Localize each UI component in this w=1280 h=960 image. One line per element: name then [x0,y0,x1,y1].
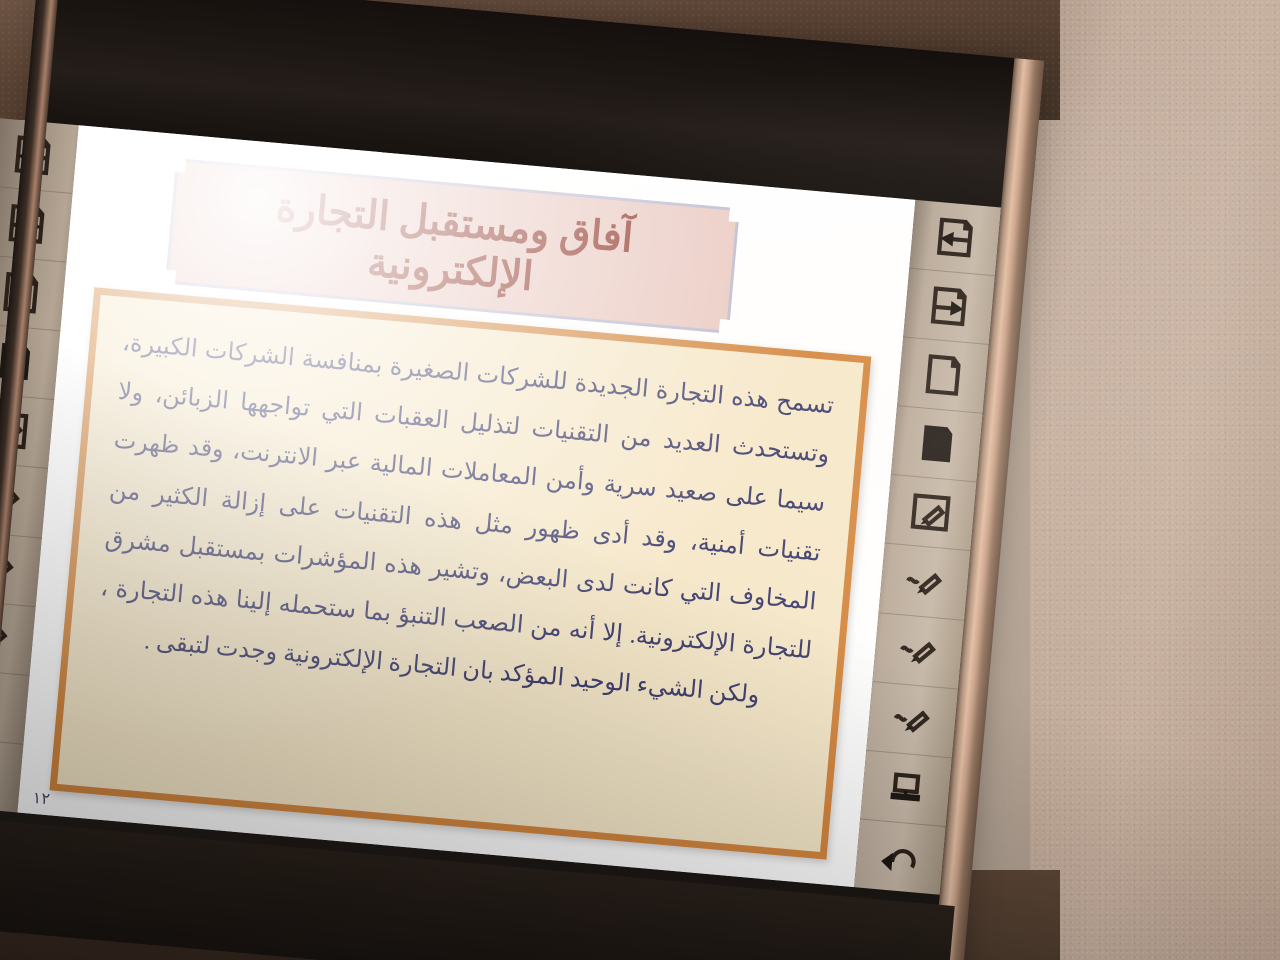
slide-title: آفاق ومستقبل التجارة الإلكترونية [169,174,735,318]
toolbar-right-pen-2-button[interactable] [872,613,964,689]
room-scene: JMD Electronic [0,0,1280,960]
toolbar-right-page-back-button[interactable] [909,200,1001,276]
toolbar-right-undo-button[interactable] [854,819,946,894]
pen-squiggle-1-icon [907,573,940,595]
projection-screen[interactable]: آفاق ومستقبل التجارة الإلكترونية تسمح هذ… [17,125,915,887]
slide-page-number: ١٢ [32,788,51,809]
toolbar-right-eraser-button[interactable] [860,750,952,826]
black-page-icon [922,426,953,463]
slide-body-paragraph: تسمح هذه التجارة الجديدة للشركات الصغيرة… [94,319,836,725]
undo-icon [880,849,914,873]
slide-body: تسمح هذه التجارة الجديدة للشركات الصغيرة… [67,295,863,738]
toolbar-right-pen-3-button[interactable] [866,682,958,758]
presentation-slide: آفاق ومستقبل التجارة الإلكترونية تسمح هذ… [17,125,915,887]
interactive-whiteboard: JMD Electronic [0,0,1095,960]
eraser-icon [890,774,921,801]
pen-squiggle-3-icon [895,711,928,733]
toolbar-right-pen-1-button[interactable] [879,544,971,620]
pen-box-icon [920,507,943,527]
toolbar-right-black-page-button[interactable] [891,406,983,482]
pen-squiggle-2-icon [901,642,934,664]
toolbar-right-blank-page-button[interactable] [897,338,989,414]
slide-content-box: تسمح هذه التجارة الجديدة للشركات الصغيرة… [49,287,871,859]
toolbar-right-page-forward-button[interactable] [903,269,995,345]
toolbar-right-pen-box-button[interactable] [885,475,977,551]
